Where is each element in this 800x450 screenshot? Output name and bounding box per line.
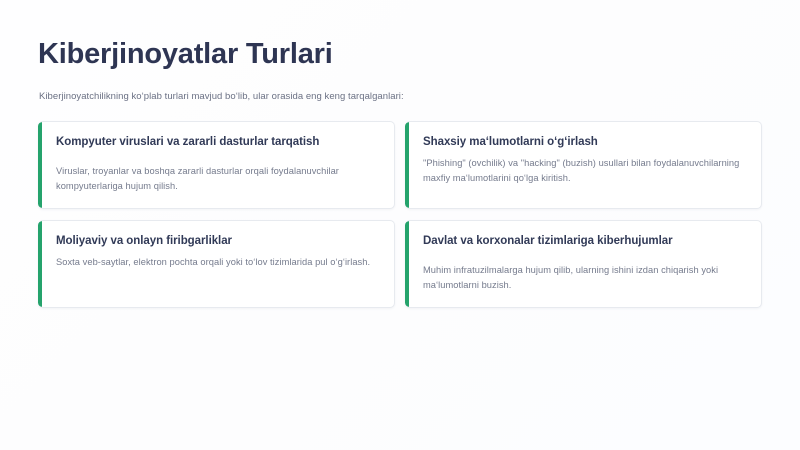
card-item-3[interactable]: Davlat va korxonalar tizimlariga kiberhu… [405, 220, 762, 308]
card-title: Moliyaviy va onlayn firibgarliklar [56, 234, 378, 249]
page-subtitle: Kiberjinoyatchilikning ko‘plab turlari m… [39, 90, 760, 103]
slide-container: Kiberjinoyatlar Turlari Kiberjinoyatchil… [0, 0, 800, 450]
card-description: Soxta veb-saytlar, elektron pochta orqal… [56, 255, 378, 270]
card-item-2[interactable]: Moliyaviy va onlayn firibgarliklar Soxta… [38, 220, 395, 308]
card-description: Viruslar, troyanlar va boshqa zararli da… [56, 164, 378, 194]
card-item-0[interactable]: Kompyuter viruslari va zararli dasturlar… [38, 121, 395, 209]
card-description: Muhim infratuzilmalarga hujum qilib, ula… [423, 263, 745, 293]
card-description: "Phishing" (ovchilik) va "hacking" (buzi… [423, 156, 745, 186]
card-title: Shaxsiy ma‘lumotlarni o‘g‘irlash [423, 135, 745, 150]
page-title: Kiberjinoyatlar Turlari [38, 38, 760, 71]
card-grid: Kompyuter viruslari va zararli dasturlar… [38, 121, 762, 308]
card-title: Davlat va korxonalar tizimlariga kiberhu… [423, 234, 745, 249]
card-item-1[interactable]: Shaxsiy ma‘lumotlarni o‘g‘irlash "Phishi… [405, 121, 762, 209]
card-title: Kompyuter viruslari va zararli dasturlar… [56, 135, 378, 150]
